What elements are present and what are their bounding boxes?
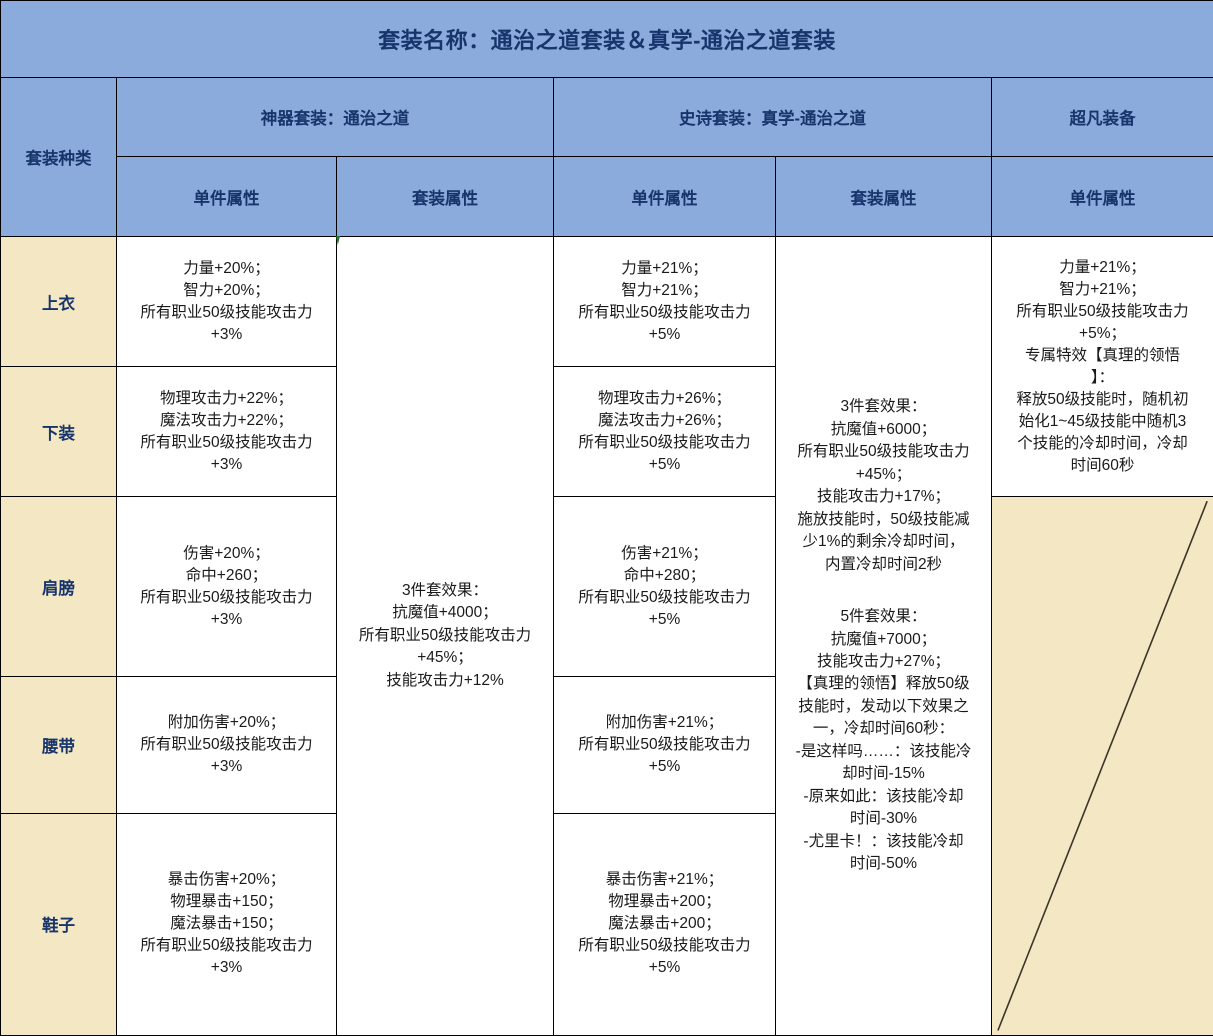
attr-line: 所有职业50级技能攻击力 xyxy=(121,734,332,756)
attr-line: 智力+21%； xyxy=(996,279,1209,301)
attr-line: 所有职业50级技能攻击力 xyxy=(996,301,1209,323)
set-effect-line: +45%； xyxy=(780,464,987,486)
part-label-bottom: 下装 xyxy=(1,367,117,497)
set-effect-line: +45%； xyxy=(341,647,549,669)
attr-line: +5% xyxy=(558,324,771,346)
attr-line: 物理暴击+200； xyxy=(558,891,771,913)
set-effect-block: 3件套效果： 抗魔值+4000； 所有职业50级技能攻击力 +45%； 技能攻击… xyxy=(341,580,549,692)
set-effect-line: 少1%的剩余冷却时间， xyxy=(780,531,987,553)
set-effect-line: 所有职业50级技能攻击力 xyxy=(341,625,549,647)
set-effect-line: 时间-50% xyxy=(780,853,987,875)
attr-line: 时间60秒 xyxy=(996,455,1209,477)
header-artifact-set: 神器套装：通治之道 xyxy=(117,78,554,157)
set-effect-line: 一，冷却时间60秒： xyxy=(780,718,987,740)
attr-line: 个技能的冷却时间，冷却 xyxy=(996,433,1209,455)
attr-line: 专属特效【真理的领悟 xyxy=(996,345,1209,367)
attr-line: 伤害+20%； xyxy=(121,543,332,565)
attr-line: 所有职业50级技能攻击力 xyxy=(121,302,332,324)
part-label-top: 上衣 xyxy=(1,237,117,367)
extraordinary-single-attr: 力量+21%； 智力+21%； 所有职业50级技能攻击力 +5%； 专属特效【真… xyxy=(992,237,1213,497)
header-epic-set-attr: 套装属性 xyxy=(776,157,992,237)
attr-line: 所有职业50级技能攻击力 xyxy=(558,587,771,609)
artifact-single-attr-top: 力量+20%； 智力+20%； 所有职业50级技能攻击力 +3% xyxy=(117,237,337,367)
header-epic-set: 史诗套装：真学-通治之道 xyxy=(554,78,992,157)
attr-line: 附加伤害+21%； xyxy=(558,712,771,734)
epic-single-attr-top: 力量+21%； 智力+21%； 所有职业50级技能攻击力 +5% xyxy=(554,237,776,367)
set-effect-line: 抗魔值+7000； xyxy=(780,629,987,651)
attr-line: 力量+20%； xyxy=(121,258,332,280)
part-label-belt: 腰带 xyxy=(1,676,117,813)
set-effect-block-5piece: 5件套效果： 抗魔值+7000； 技能攻击力+27%； 【真理的领悟】释放50级… xyxy=(780,606,987,876)
attr-line: +3% xyxy=(121,324,332,346)
attr-line: 力量+21%； xyxy=(996,257,1209,279)
artifact-single-attr-shoulder: 伤害+20%； 命中+260； 所有职业50级技能攻击力 +3% xyxy=(117,497,337,677)
header-set-category: 套装种类 xyxy=(1,78,117,237)
attr-line: +3% xyxy=(121,957,332,979)
set-effect-line: 技能攻击力+12% xyxy=(341,670,549,692)
set-effect-line: -是这样吗……：该技能冷 xyxy=(780,741,987,763)
table-row: 肩膀 伤害+20%； 命中+260； 所有职业50级技能攻击力 +3% 伤害+2… xyxy=(1,497,1213,677)
attr-line: +5%； xyxy=(996,323,1209,345)
attr-line: 伤害+21%； xyxy=(558,543,771,565)
attr-line: 命中+260； xyxy=(121,565,332,587)
set-effect-line: 内置冷却时间2秒 xyxy=(780,554,987,576)
attr-line: 所有职业50级技能攻击力 xyxy=(558,302,771,324)
set-effect-line: 【真理的领悟】释放50级 xyxy=(780,673,987,695)
set-effect-line: -原来如此：该技能冷却 xyxy=(780,786,987,808)
attr-line: 暴击伤害+20%； xyxy=(121,869,332,891)
attr-line: +5% xyxy=(558,609,771,631)
part-label-shoes: 鞋子 xyxy=(1,813,117,1035)
artifact-single-attr-belt: 附加伤害+20%； 所有职业50级技能攻击力 +3% xyxy=(117,676,337,813)
epic-single-attr-shoulder: 伤害+21%； 命中+280； 所有职业50级技能攻击力 +5% xyxy=(554,497,776,677)
attr-line: 力量+21%； xyxy=(558,258,771,280)
diagonal-slash-icon xyxy=(996,499,1209,1033)
set-effect-line: 3件套效果： xyxy=(780,396,987,418)
set-effect-line: 技能攻击力+27%； xyxy=(780,651,987,673)
attr-line: 所有职业50级技能攻击力 xyxy=(121,587,332,609)
set-effect-line: 抗魔值+4000； xyxy=(341,602,549,624)
set-effect-line: 所有职业50级技能攻击力 xyxy=(780,441,987,463)
attr-line: 暴击伤害+21%； xyxy=(558,869,771,891)
part-label-shoulder: 肩膀 xyxy=(1,497,117,677)
attr-line: 所有职业50级技能攻击力 xyxy=(121,432,332,454)
attr-line: 物理暴击+150； xyxy=(121,891,332,913)
epic-set-effect: 3件套效果： 抗魔值+6000； 所有职业50级技能攻击力 +45%； 技能攻击… xyxy=(776,237,992,1036)
attr-line: 物理攻击力+26%； xyxy=(558,388,771,410)
attr-line: 命中+280； xyxy=(558,565,771,587)
attr-line: 所有职业50级技能攻击力 xyxy=(558,432,771,454)
attr-line: 魔法暴击+150； xyxy=(121,913,332,935)
header-extraordinary-gear: 超凡装备 xyxy=(992,78,1213,157)
set-effect-line: 时间-30% xyxy=(780,808,987,830)
set-effect-line: 3件套效果： xyxy=(341,580,549,602)
epic-single-attr-shoes: 暴击伤害+21%； 物理暴击+200； 魔法暴击+200； 所有职业50级技能攻… xyxy=(554,813,776,1035)
header-artifact-single-attr: 单件属性 xyxy=(117,157,337,237)
attr-line: 物理攻击力+22%； xyxy=(121,388,332,410)
set-effect-line: 技能时，发动以下效果之 xyxy=(780,696,987,718)
set-effect-block-3piece: 3件套效果： 抗魔值+6000； 所有职业50级技能攻击力 +45%； 技能攻击… xyxy=(780,396,987,576)
attr-line: +3% xyxy=(121,454,332,476)
header-epic-single-attr: 单件属性 xyxy=(554,157,776,237)
artifact-single-attr-bottom: 物理攻击力+22%； 魔法攻击力+22%； 所有职业50级技能攻击力 +3% xyxy=(117,367,337,497)
attr-line: 魔法攻击力+22%； xyxy=(121,410,332,432)
attr-line: 智力+20%； xyxy=(121,280,332,302)
attr-line: 智力+21%； xyxy=(558,280,771,302)
header-row-set-category: 套装种类 神器套装：通治之道 史诗套装：真学-通治之道 超凡装备 xyxy=(1,78,1213,157)
set-effect-line: 施放技能时，50级技能减 xyxy=(780,509,987,531)
attr-line: +3% xyxy=(121,609,332,631)
set-effect-line: -尤里卡！：该技能冷却 xyxy=(780,831,987,853)
artifact-set-effect: 3件套效果： 抗魔值+4000； 所有职业50级技能攻击力 +45%； 技能攻击… xyxy=(337,237,554,1036)
gear-set-table-sheet: 套装名称：通治之道套装＆真学-通治之道套装 套装种类 神器套装：通治之道 史诗套… xyxy=(0,0,1213,1036)
gear-set-table: 套装名称：通治之道套装＆真学-通治之道套装 套装种类 神器套装：通治之道 史诗套… xyxy=(0,0,1213,1036)
empty-diagonal-cell xyxy=(992,497,1213,1036)
attr-line: 附加伤害+20%； xyxy=(121,712,332,734)
artifact-single-attr-shoes: 暴击伤害+20%； 物理暴击+150； 魔法暴击+150； 所有职业50级技能攻… xyxy=(117,813,337,1035)
epic-single-attr-bottom: 物理攻击力+26%； 魔法攻击力+26%； 所有职业50级技能攻击力 +5% xyxy=(554,367,776,497)
attr-line: +5% xyxy=(558,756,771,778)
attr-line: 释放50级技能时，随机初 xyxy=(996,389,1209,411)
attr-line: +5% xyxy=(558,957,771,979)
set-effect-line: 技能攻击力+17%； xyxy=(780,486,987,508)
header-extraordinary-single-attr: 单件属性 xyxy=(992,157,1213,237)
page-title: 套装名称：通治之道套装＆真学-通治之道套装 xyxy=(1,1,1213,78)
set-effect-line: 却时间-15% xyxy=(780,763,987,785)
set-effect-line: 5件套效果： xyxy=(780,606,987,628)
attr-line: +5% xyxy=(558,454,771,476)
header-row-attribute-category: 单件属性 套装属性 单件属性 套装属性 单件属性 xyxy=(1,157,1213,237)
attr-line: 】： xyxy=(996,367,1209,389)
attr-line: 所有职业50级技能攻击力 xyxy=(121,935,332,957)
attr-line: 所有职业50级技能攻击力 xyxy=(558,734,771,756)
attr-line: 所有职业50级技能攻击力 xyxy=(558,935,771,957)
attr-line: 魔法暴击+200； xyxy=(558,913,771,935)
attr-line: +3% xyxy=(121,756,332,778)
set-effect-line: 抗魔值+6000； xyxy=(780,419,987,441)
attr-line: 魔法攻击力+26%； xyxy=(558,410,771,432)
attr-line: 始化1~45级技能中随机3 xyxy=(996,411,1209,433)
header-artifact-set-attr: 套装属性 xyxy=(337,157,554,237)
title-row: 套装名称：通治之道套装＆真学-通治之道套装 xyxy=(1,1,1213,78)
table-row: 上衣 力量+20%； 智力+20%； 所有职业50级技能攻击力 +3% 3件套效… xyxy=(1,237,1213,367)
epic-single-attr-belt: 附加伤害+21%； 所有职业50级技能攻击力 +5% xyxy=(554,676,776,813)
